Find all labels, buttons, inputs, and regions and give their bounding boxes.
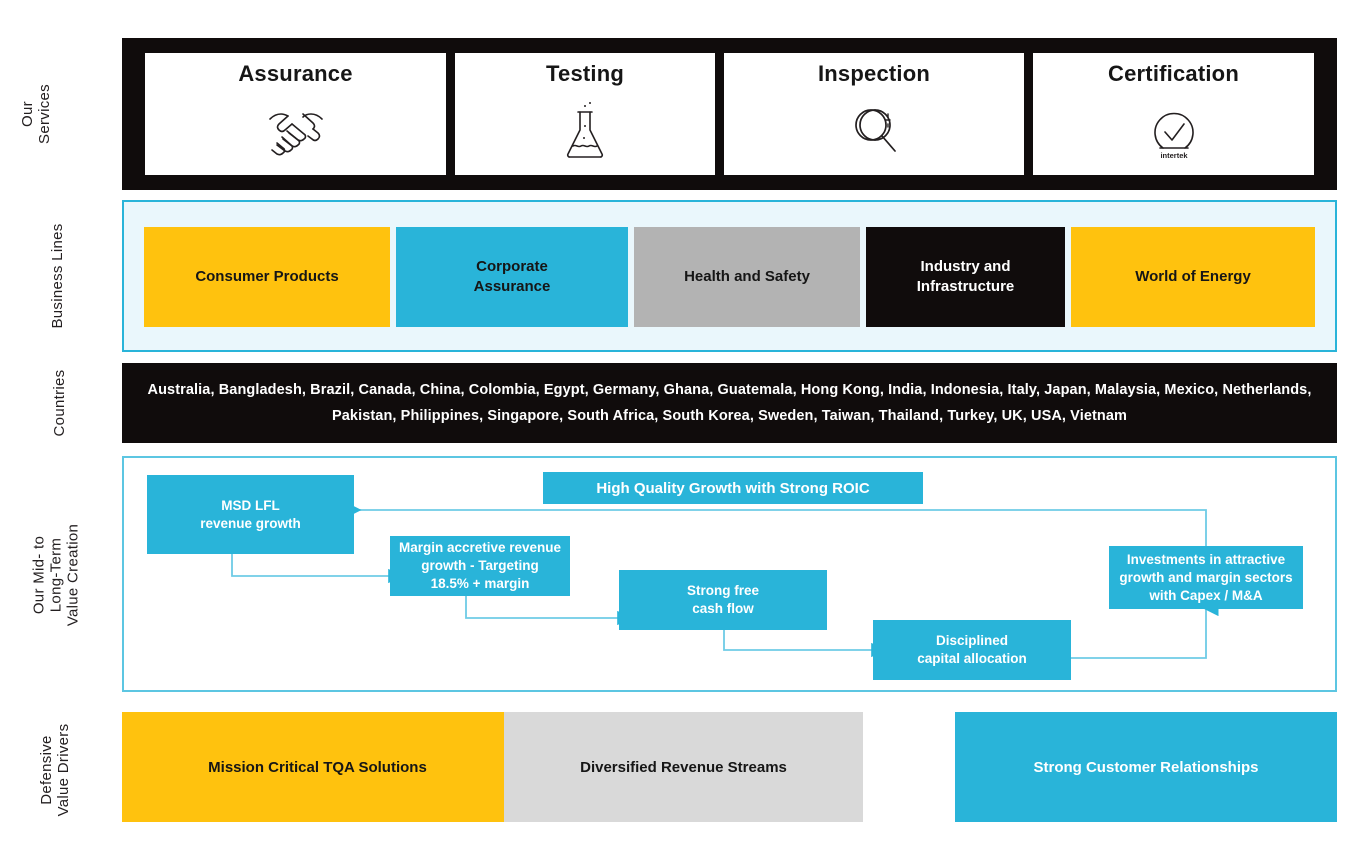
flow-node-margin-accretive[interactable]: Margin accretive revenue growth - Target… <box>390 536 570 596</box>
service-card-testing[interactable]: Testing <box>455 53 715 175</box>
defensive-driver-label: Mission Critical TQA Solutions <box>208 759 427 776</box>
row-label-value-creation: Our Mid- to Long-Term Value Creation <box>28 498 84 653</box>
service-card-assurance[interactable]: Assurance <box>145 53 446 175</box>
defensive-driver-mission-critical-tqa[interactable]: Mission Critical TQA Solutions <box>122 712 513 822</box>
service-title: Assurance <box>238 61 352 87</box>
business-lines-frame: Consumer Products Corporate Assurance He… <box>122 200 1337 352</box>
flow-node-label: Disciplined capital allocation <box>917 632 1027 668</box>
countries-box: Australia, Bangladesh, Brazil, Canada, C… <box>122 363 1337 443</box>
value-creation-frame: High Quality Growth with Strong ROIC MSD… <box>122 456 1337 692</box>
magnifier-icon <box>845 87 903 175</box>
our-services-frame: Assurance Testing <box>122 38 1337 190</box>
defensive-driver-label: Strong Customer Relationships <box>1033 759 1258 776</box>
flow-node-investments[interactable]: Investments in attractive growth and mar… <box>1109 546 1303 609</box>
check-circle-intertek-icon: intertek <box>1143 87 1205 175</box>
flow-node-label: MSD LFL revenue growth <box>200 497 301 533</box>
business-line-label: Industry and Infrastructure <box>917 257 1015 297</box>
business-line-industry-and-infrastructure[interactable]: Industry and Infrastructure <box>866 227 1065 327</box>
flow-node-label: Strong free cash flow <box>687 582 759 618</box>
defensive-driver-label: Diversified Revenue Streams <box>580 759 787 776</box>
business-line-world-of-energy[interactable]: World of Energy <box>1071 227 1315 327</box>
business-line-label: World of Energy <box>1135 267 1251 287</box>
handshake-icon <box>263 87 329 175</box>
flow-node-strong-free-cash-flow[interactable]: Strong free cash flow <box>619 570 827 630</box>
service-title: Inspection <box>818 61 930 87</box>
defensive-driver-diversified-revenue-streams[interactable]: Diversified Revenue Streams <box>504 712 863 822</box>
service-title: Certification <box>1108 61 1239 87</box>
countries-list: Australia, Bangladesh, Brazil, Canada, C… <box>137 377 1322 429</box>
value-creation-banner: High Quality Growth with Strong ROIC <box>543 472 923 504</box>
business-line-health-and-safety[interactable]: Health and Safety <box>634 227 860 327</box>
business-line-consumer-products[interactable]: Consumer Products <box>144 227 390 327</box>
flow-node-msd-lfl[interactable]: MSD LFL revenue growth <box>147 475 354 554</box>
service-card-certification[interactable]: Certification intertek <box>1033 53 1314 175</box>
business-line-label: Corporate Assurance <box>474 257 551 297</box>
service-card-inspection[interactable]: Inspection <box>724 53 1024 175</box>
defensive-driver-strong-customer-relationships[interactable]: Strong Customer Relationships <box>955 712 1337 822</box>
business-line-label: Health and Safety <box>684 267 810 287</box>
service-title: Testing <box>546 61 624 87</box>
flow-node-disciplined-capital-allocation[interactable]: Disciplined capital allocation <box>873 620 1071 680</box>
flask-icon <box>561 87 609 175</box>
row-label-our-services: Our Services <box>4 59 68 169</box>
diagram-canvas: Our Services Assurance Testing <box>0 0 1369 868</box>
row-label-business-lines: Business Lines <box>43 201 71 351</box>
flow-node-label: Margin accretive revenue growth - Target… <box>399 539 561 593</box>
row-label-defensive-value-drivers: Defensive Value Drivers <box>35 695 75 845</box>
business-line-label: Consumer Products <box>195 267 338 287</box>
flow-node-label: Investments in attractive growth and mar… <box>1119 551 1292 605</box>
svg-text:intertek: intertek <box>1160 151 1188 160</box>
business-line-corporate-assurance[interactable]: Corporate Assurance <box>396 227 628 327</box>
banner-label: High Quality Growth with Strong ROIC <box>596 480 869 497</box>
row-label-countries: Countries <box>45 343 73 463</box>
